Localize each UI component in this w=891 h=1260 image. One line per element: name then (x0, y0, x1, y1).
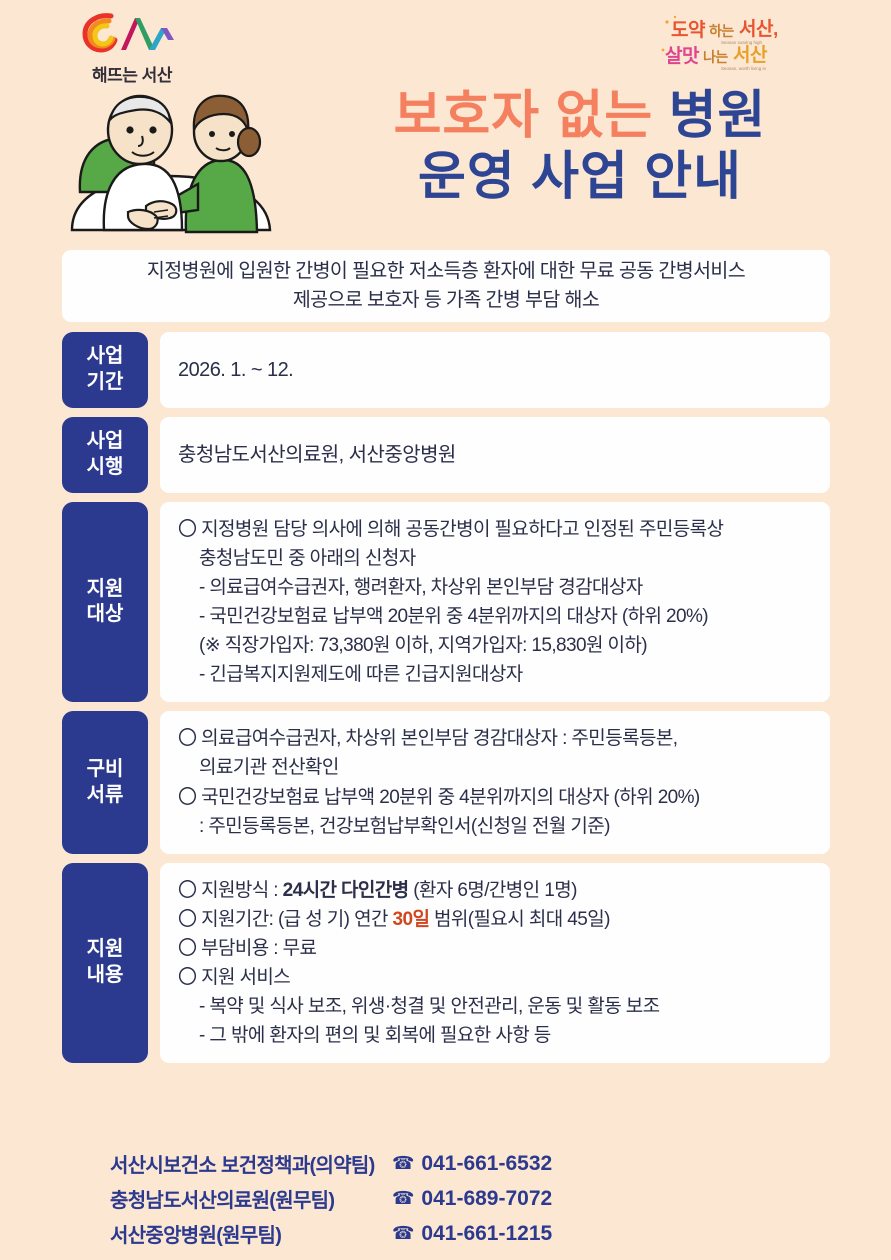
description-line-1: 지정병원에 입원한 간병이 필요한 저소득층 환자에 대한 무료 공동 간병서비… (147, 257, 745, 286)
label-line-2: 시행 (87, 455, 124, 481)
description-box: 지정병원에 입원한 간병이 필요한 저소득층 환자에 대한 무료 공동 간병서비… (62, 250, 830, 322)
row-label-support-details: 지원 내용 (62, 863, 148, 1063)
contact-organization: 서산시보건소 보건정책과(의약팀) (62, 1149, 392, 1178)
title-line-1: 보호자 없는 병원 (300, 86, 860, 147)
bullet-line: (※ 직장가입자: 73,380원 이하, 지역가입자: 15,830원 이하) (178, 631, 812, 660)
telephone-icon: ☎ (392, 1223, 414, 1244)
description-line-2: 제공으로 보호자 등 가족 간병 부담 해소 (293, 286, 599, 315)
seosan-city-logo: 해뜨는 서산 (72, 10, 192, 86)
poster-root: 해뜨는 서산 도약 하는 서산, Seosan soaring high 살맛 … (0, 0, 891, 1260)
poster-header: 해뜨는 서산 도약 하는 서산, Seosan soaring high 살맛 … (0, 0, 891, 240)
label-line-1: 사업 (87, 344, 124, 370)
body-line: 충청남도서산의료원, 서산중앙병원 (178, 440, 812, 470)
label-line-1: 사업 (87, 429, 124, 455)
contact-row: 서산중앙병원(원무팀) ☎ 041-661-1215 (62, 1216, 830, 1251)
label-line-2: 내용 (87, 963, 124, 989)
bullet-line: - 그 밖에 환자의 편의 및 회복에 필요한 사항 등 (178, 1021, 812, 1050)
support-method-post: (환자 6명/간병인 1명) (409, 880, 577, 901)
contact-organization: 충청남도서산의료원(원무팀) (62, 1184, 392, 1213)
page-title: 보호자 없는 병원 운영 사업 안내 (300, 86, 860, 209)
seosan-logo-mark (77, 10, 187, 58)
svg-text:서산: 서산 (733, 44, 768, 66)
row-label-implementing-agency: 사업 시행 (62, 417, 148, 493)
telephone-icon: ☎ (392, 1188, 414, 1209)
title-line-2: 운영 사업 안내 (300, 147, 860, 208)
bullet-line: 충청남도민 중 아래의 신청자 (178, 544, 812, 573)
row-body-business-period: 2026. 1. ~ 12. (160, 332, 830, 408)
info-rows: 사업 기간 2026. 1. ~ 12. 사업 시행 충청남도서산의료원, 서산… (62, 332, 830, 1072)
telephone-icon: ☎ (392, 1153, 414, 1174)
contact-phone-number: 041-689-7072 (421, 1187, 552, 1211)
bullet-line-support-method: 〇 지원방식 : 24시간 다인간병 (환자 6명/간병인 1명) (178, 876, 812, 905)
contact-row: 서산시보건소 보건정책과(의약팀) ☎ 041-661-6532 (62, 1146, 830, 1181)
row-label-required-documents: 구비 서류 (62, 711, 148, 853)
seosan-slogan: 도약 하는 서산, Seosan soaring high 살맛 나는 서산 S… (661, 12, 829, 74)
patient-caregiver-illustration (58, 80, 293, 238)
contact-phone-number: 041-661-6532 (421, 1152, 552, 1176)
bullet-line-support-period: 〇 지원기간: (급 성 기) 연간 30일 범위(필요시 최대 45일) (178, 905, 812, 934)
row-business-period: 사업 기간 2026. 1. ~ 12. (62, 332, 830, 408)
label-line-2: 대상 (87, 602, 124, 628)
label-line-1: 지원 (87, 937, 124, 963)
row-label-business-period: 사업 기간 (62, 332, 148, 408)
label-line-1: 지원 (87, 577, 124, 603)
bullet-line: - 복약 및 식사 보조, 위생·청결 및 안전관리, 운동 및 활동 보조 (178, 992, 812, 1021)
row-body-implementing-agency: 충청남도서산의료원, 서산중앙병원 (160, 417, 830, 493)
bullet-line: - 의료급여수급권자, 행려환자, 차상위 본인부담 경감대상자 (178, 573, 812, 602)
label-line-2: 서류 (87, 783, 124, 809)
svg-text:하는: 하는 (709, 23, 734, 39)
row-eligibility: 지원 대상 〇 지정병원 담당 의사에 의해 공동간병이 필요하다고 인정된 주… (62, 502, 830, 702)
bullet-line: 〇 의료급여수급권자, 차상위 본인부담 경감대상자 : 주민등록등본, (178, 724, 812, 753)
row-implementing-agency: 사업 시행 충청남도서산의료원, 서산중앙병원 (62, 417, 830, 493)
row-support-details: 지원 내용 〇 지원방식 : 24시간 다인간병 (환자 6명/간병인 1명) … (62, 863, 830, 1063)
bullet-line: : 주민등록등본, 건강보험납부확인서(신청일 전월 기준) (178, 812, 812, 841)
contact-phone[interactable]: ☎ 041-689-7072 (392, 1187, 552, 1211)
bullet-line: - 국민건강보험료 납부액 20분위 중 4분위까지의 대상자 (하위 20%) (178, 602, 812, 631)
contact-row: 충청남도서산의료원(원무팀) ☎ 041-689-7072 (62, 1181, 830, 1216)
svg-text:나는: 나는 (703, 49, 728, 65)
svg-text:살맛: 살맛 (665, 45, 700, 67)
row-body-eligibility: 〇 지정병원 담당 의사에 의해 공동간병이 필요하다고 인정된 주민등록상 충… (160, 502, 830, 702)
row-body-support-details: 〇 지원방식 : 24시간 다인간병 (환자 6명/간병인 1명) 〇 지원기간… (160, 863, 830, 1063)
label-line-1: 구비 (87, 757, 124, 783)
contact-list: 서산시보건소 보건정책과(의약팀) ☎ 041-661-6532 충청남도서산의… (62, 1146, 830, 1251)
svg-text:도약: 도약 (671, 19, 706, 41)
support-period-pre: 〇 지원기간: (급 성 기) 연간 (178, 909, 393, 930)
contact-phone[interactable]: ☎ 041-661-6532 (392, 1152, 552, 1176)
contact-organization: 서산중앙병원(원무팀) (62, 1219, 392, 1248)
svg-text:Seosan, worth living in: Seosan, worth living in (721, 66, 767, 71)
bullet-line: 의료기관 전산확인 (178, 753, 812, 782)
bullet-line: - 긴급복지지원제도에 따른 긴급지원대상자 (178, 660, 812, 689)
support-method-bold: 24시간 다인간병 (283, 880, 409, 901)
row-label-eligibility: 지원 대상 (62, 502, 148, 702)
title-part-navy: 병원 (669, 87, 767, 145)
bullet-line: 〇 지정병원 담당 의사에 의해 공동간병이 필요하다고 인정된 주민등록상 (178, 515, 812, 544)
row-required-documents: 구비 서류 〇 의료급여수급권자, 차상위 본인부담 경감대상자 : 주민등록등… (62, 711, 830, 853)
contact-phone[interactable]: ☎ 041-661-1215 (392, 1222, 552, 1246)
label-line-2: 기간 (87, 370, 124, 396)
svg-text:서산,: 서산, (739, 18, 778, 40)
contact-phone-number: 041-661-1215 (421, 1222, 552, 1246)
slogan-artwork: 도약 하는 서산, Seosan soaring high 살맛 나는 서산 S… (661, 12, 829, 74)
title-part-orange: 보호자 없는 (394, 87, 654, 145)
row-body-required-documents: 〇 의료급여수급권자, 차상위 본인부담 경감대상자 : 주민등록등본, 의료기… (160, 711, 830, 853)
support-period-highlight: 30일 (393, 909, 430, 930)
illustration-artwork (58, 80, 293, 238)
bullet-line: 〇 지원 서비스 (178, 963, 812, 992)
bullet-line: 〇 국민건강보험료 납부액 20분위 중 4분위까지의 대상자 (하위 20%) (178, 783, 812, 812)
support-period-post: 범위(필요시 최대 45일) (429, 909, 609, 930)
bullet-line: 〇 부담비용 : 무료 (178, 934, 812, 963)
support-method-pre: 〇 지원방식 : (178, 880, 283, 901)
body-line: 2026. 1. ~ 12. (178, 355, 812, 385)
